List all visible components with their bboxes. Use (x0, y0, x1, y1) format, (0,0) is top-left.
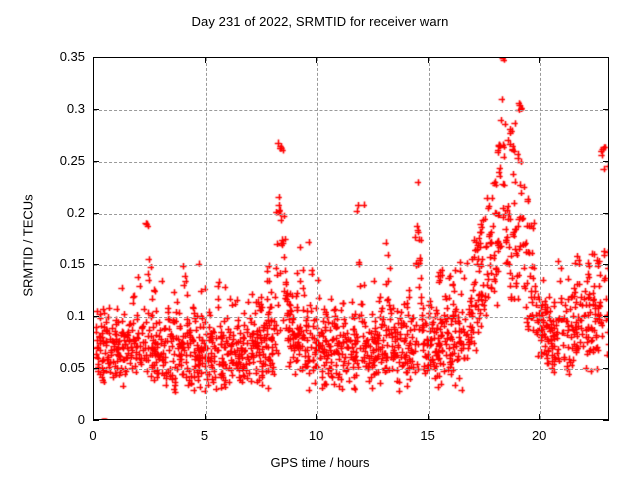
gridline-horizontal (94, 110, 608, 111)
gridline-horizontal (94, 265, 608, 266)
y-tick-label: 0 (15, 412, 85, 427)
gridline-horizontal (94, 214, 608, 215)
gridline-horizontal (94, 162, 608, 163)
y-axis-tick (603, 420, 609, 421)
x-tick-label: 0 (73, 428, 113, 443)
y-axis-tick (93, 420, 99, 421)
x-tick-label: 10 (296, 428, 336, 443)
gridline-horizontal (94, 369, 608, 370)
gridline-vertical (540, 58, 541, 419)
y-axis-label: SRMTID / TECUs (21, 156, 36, 336)
x-tick-label: 15 (408, 428, 448, 443)
gridline-vertical (206, 58, 207, 419)
gridline-horizontal (94, 317, 608, 318)
x-axis-label: GPS time / hours (0, 455, 640, 470)
y-tick-label: 0.35 (15, 49, 85, 64)
chart-title: Day 231 of 2022, SRMTID for receiver war… (0, 14, 640, 29)
y-tick-label: 0.05 (15, 360, 85, 375)
plot-area (93, 57, 609, 420)
y-tick-label: 0.3 (15, 101, 85, 116)
scatter-points-layer (94, 58, 609, 420)
gridline-vertical (317, 58, 318, 419)
x-tick-label: 5 (185, 428, 225, 443)
chart-container: Day 231 of 2022, SRMTID for receiver war… (0, 0, 640, 480)
x-tick-label: 20 (519, 428, 559, 443)
gridline-vertical (429, 58, 430, 419)
